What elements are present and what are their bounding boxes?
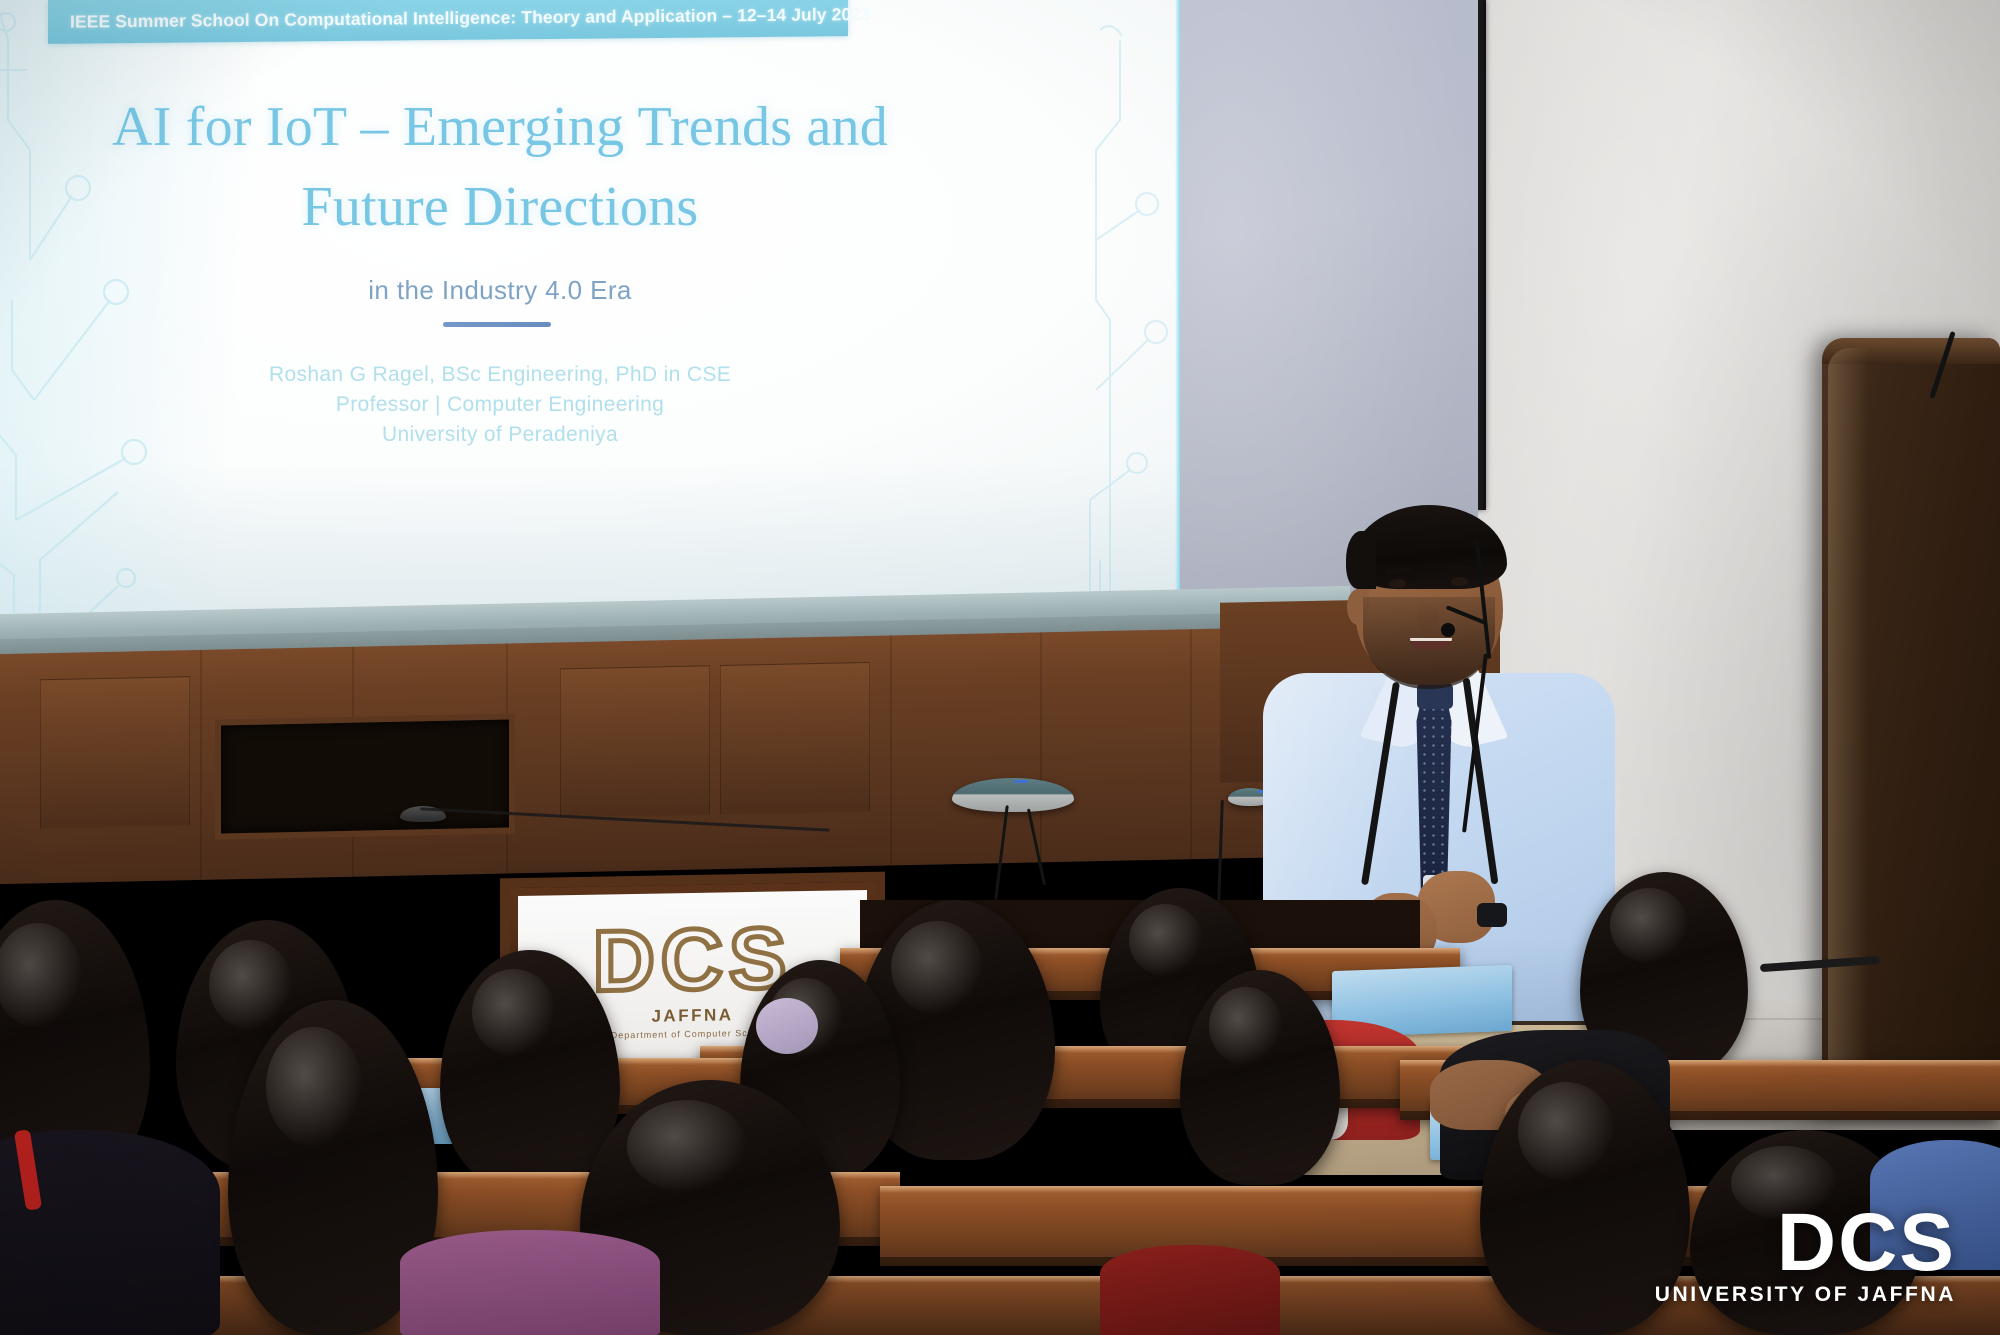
watermark-caption: UNIVERSITY OF JAFFNA: [1655, 1283, 1956, 1307]
hair-highlight: [266, 1027, 363, 1148]
wooden-lectern: [1822, 338, 2000, 1118]
stage-wood-paneling: [0, 626, 1350, 884]
lecture-hall-photo: IEEE Summer School On Computational Inte…: [0, 0, 2000, 1335]
wood-panel: [40, 676, 190, 829]
audience-torso: [1100, 1245, 1280, 1335]
slide-banner-text: IEEE Summer School On Computational Inte…: [70, 3, 871, 32]
microphone-capsule-icon: [1441, 623, 1455, 637]
projection-edge-right: [1175, 0, 1180, 640]
presenter-mouth: [1410, 638, 1452, 649]
presenter-role-line: Professor | Computer Engineering: [0, 390, 1000, 420]
presenter-affiliation-line: University of Peradeniya: [0, 420, 1000, 450]
hair-highlight: [472, 969, 555, 1055]
hair-highlight: [209, 940, 293, 1030]
watermark-logo-text: DCS: [1655, 1207, 1956, 1279]
podium-dcs-logo: DCS: [593, 919, 793, 1002]
presenter-eye: [1389, 579, 1406, 588]
hair-highlight: [1610, 888, 1687, 962]
slide-banner: IEEE Summer School On Computational Inte…: [48, 0, 848, 44]
hair-scrunchie: [756, 998, 818, 1054]
slide-title-line1: AI for IoT – Emerging Trends and: [112, 96, 888, 158]
hair-highlight: [1209, 987, 1283, 1064]
slide-title: AI for IoT – Emerging Trends and Future …: [0, 88, 1000, 247]
projected-slide: IEEE Summer School On Computational Inte…: [0, 0, 1180, 640]
conference-speaker-pod: [952, 778, 1074, 812]
slide-subtitle-rule: [443, 322, 551, 327]
circuit-pattern-right-icon: [1000, 0, 1180, 640]
hair-highlight: [1518, 1082, 1615, 1181]
slide-subtitle: in the Industry 4.0 Era: [0, 275, 1000, 306]
wood-recess: [215, 713, 515, 839]
audience-torso: [400, 1230, 660, 1335]
hair-highlight: [627, 1100, 747, 1192]
hair-highlight: [891, 921, 983, 1015]
wood-grain: [200, 650, 202, 880]
wood-panel: [560, 665, 710, 818]
wood-panel: [720, 662, 870, 815]
slide-presenter-block: Roshan G Ragel, BSc Engineering, PhD in …: [0, 360, 1000, 449]
hair-highlight: [1129, 904, 1203, 976]
wood-grain: [1190, 629, 1192, 859]
wristwatch: [1477, 903, 1507, 927]
presenter-eye: [1451, 577, 1468, 586]
presenter-name-line: Roshan G Ragel, BSc Engineering, PhD in …: [0, 360, 1000, 390]
presenter-nose: [1417, 601, 1439, 631]
wood-grain: [1040, 632, 1042, 862]
lectern-highlight: [1828, 348, 1868, 1105]
wood-grain: [890, 635, 892, 865]
dcs-watermark: DCS UNIVERSITY OF JAFFNA: [1655, 1207, 1956, 1307]
podium-org-label: JAFFNA: [651, 1005, 733, 1026]
presenter-hair: [1351, 505, 1507, 589]
hair-highlight: [0, 923, 82, 1027]
slide-title-line2: Future Directions: [0, 168, 1000, 248]
pod-led-indicator: [1014, 780, 1028, 783]
